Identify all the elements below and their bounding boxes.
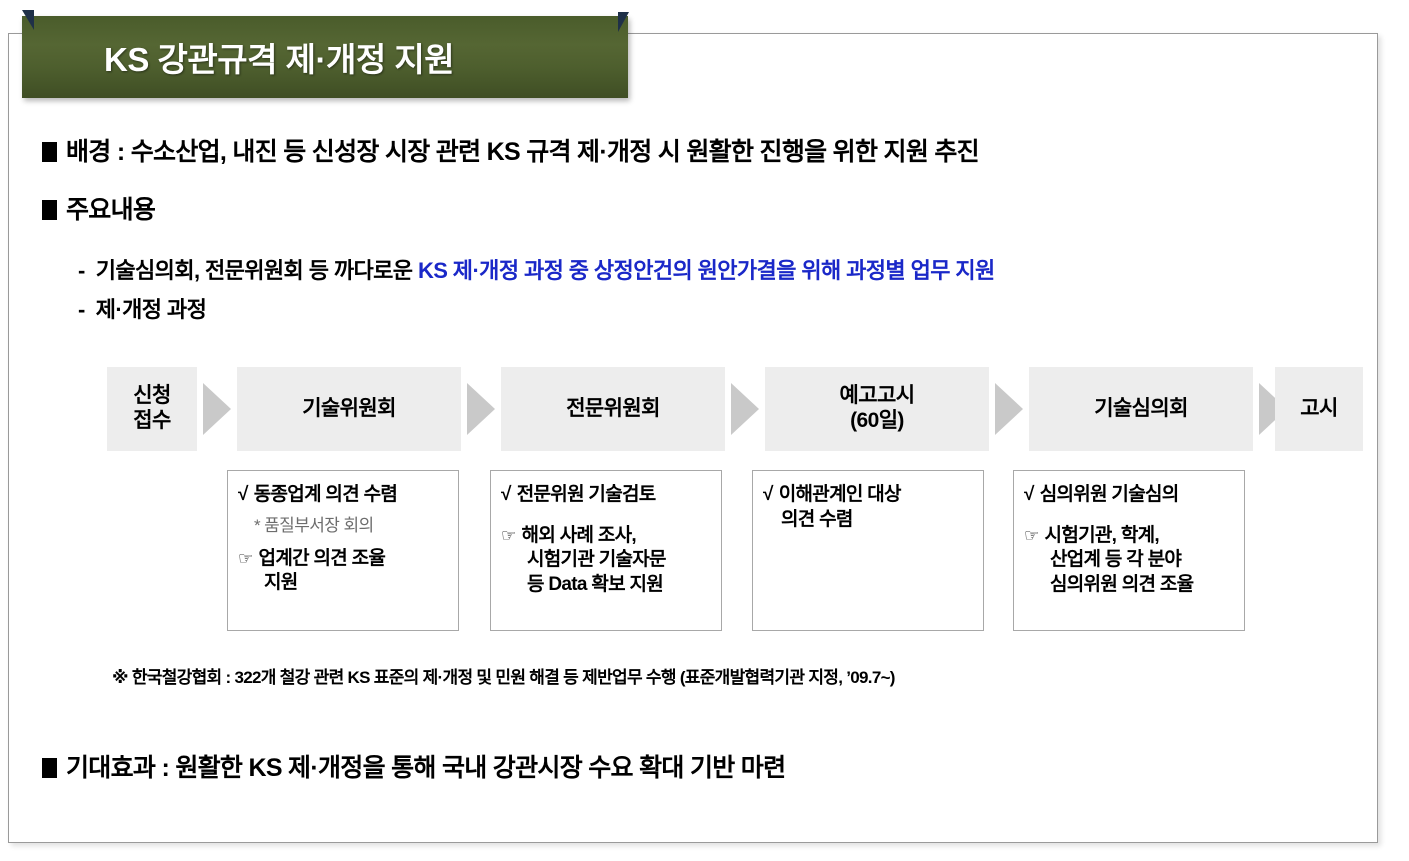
- flow-step-application-label: 신청 접수: [133, 384, 170, 434]
- detail-check-row: √ 동종업계 의견 수렴: [238, 483, 450, 508]
- flow-step-tech-committee-label: 기술위원회: [302, 397, 396, 422]
- check-icon: √: [1024, 483, 1034, 508]
- section-background-text: 배경 : 수소산업, 내진 등 신성장 시장 관련 KS 규격 제·개정 시 원…: [66, 132, 979, 168]
- detail-box-tech-deliberation: √ 심의위원 기술심의 ☞ 시험기관, 학계, 산업계 등 각 분야 심의위원 …: [1013, 470, 1245, 631]
- section-expected-effect-text: 기대효과 : 원활한 KS 제·개정을 통해 국내 강관시장 수요 확대 기반 …: [66, 748, 785, 784]
- bullet-dash-2: - 제·개정 과정: [78, 292, 206, 324]
- pointing-hand-icon: ☞: [1024, 525, 1039, 547]
- bullet-dash-1: - 기술심의회, 전문위원회 등 까다로운 KS 제·개정 과정 중 상정안건의…: [78, 253, 995, 285]
- section-expected-effect: 기대효과 : 원활한 KS 제·개정을 통해 국내 강관시장 수요 확대 기반 …: [42, 748, 785, 784]
- flow-step-expert-committee[interactable]: 전문위원회: [501, 367, 725, 451]
- title-banner: KS 강관규격 제·개정 지원: [22, 16, 628, 98]
- flow-step-notification-label: 고시: [1300, 397, 1337, 422]
- detail-note: * 품질부서장 회의: [254, 511, 450, 536]
- bullet-dash-1-black: 기술심의회, 전문위원회 등 까다로운: [96, 258, 413, 283]
- pointing-hand-icon: ☞: [501, 525, 516, 547]
- flow-step-tech-committee[interactable]: 기술위원회: [237, 367, 461, 451]
- check-icon: √: [238, 483, 248, 508]
- flow-step-tech-deliberation-label: 기술심의회: [1094, 397, 1188, 422]
- banner-notch-left-icon: [22, 10, 34, 30]
- square-bullet-icon: [42, 200, 57, 220]
- square-bullet-icon: [42, 142, 57, 162]
- section-background: 배경 : 수소산업, 내진 등 신성장 시장 관련 KS 규격 제·개정 시 원…: [42, 132, 979, 168]
- check-icon: √: [501, 483, 511, 508]
- process-flow: 신청 접수 기술위원회 전문위원회 예고고시 (60일) 기술심의회 고시: [107, 367, 1363, 451]
- flow-arrow-4-icon: [995, 383, 1023, 435]
- flow-step-tech-deliberation[interactable]: 기술심의회: [1029, 367, 1253, 451]
- detail-check-cont: 의견 수렴: [781, 508, 975, 533]
- detail-hand-text: 업계간 의견 조율: [259, 547, 386, 572]
- banner-notch-right-icon: [618, 12, 629, 32]
- dash-marker: -: [78, 297, 90, 322]
- detail-check-row: √ 이해관계인 대상: [763, 483, 975, 508]
- flow-step-public-notice[interactable]: 예고고시 (60일): [765, 367, 989, 451]
- section-main-content: 주요내용: [42, 190, 155, 226]
- dash-marker: -: [78, 258, 90, 283]
- detail-hand-cont-2: 등 Data 확보 지원: [527, 573, 713, 598]
- detail-hand-row: ☞ 업계간 의견 조율: [238, 547, 450, 572]
- detail-check-text: 이해관계인 대상: [779, 483, 901, 508]
- section-main-content-text: 주요내용: [66, 190, 155, 226]
- flow-step-application[interactable]: 신청 접수: [107, 367, 197, 451]
- detail-hand-cont-2: 심의위원 의견 조율: [1050, 573, 1236, 598]
- flow-arrow-1-icon: [203, 383, 231, 435]
- flow-step-public-notice-label: 예고고시 (60일): [840, 384, 915, 434]
- page-title: KS 강관규격 제·개정 지원: [104, 33, 454, 81]
- bullet-dash-1-blue: KS 제·개정 과정 중 상정안건의 원안가결을 위해 과정별 업무 지원: [418, 258, 995, 283]
- bullet-dash-2-text: 제·개정 과정: [96, 297, 206, 322]
- detail-check-text: 전문위원 기술검토: [517, 483, 656, 508]
- detail-box-expert-committee: √ 전문위원 기술검토 ☞ 해외 사례 조사, 시험기관 기술자문 등 Data…: [490, 470, 722, 631]
- detail-box-public-notice: √ 이해관계인 대상 의견 수렴: [752, 470, 984, 631]
- detail-hand-text: 시험기관, 학계,: [1045, 524, 1159, 549]
- check-icon: √: [763, 483, 773, 508]
- detail-box-tech-committee: √ 동종업계 의견 수렴 * 품질부서장 회의 ☞ 업계간 의견 조율 지원: [227, 470, 459, 631]
- detail-hand-row: ☞ 시험기관, 학계,: [1024, 524, 1236, 549]
- detail-hand-text: 해외 사례 조사,: [522, 524, 636, 549]
- detail-check-text: 동종업계 의견 수렴: [254, 483, 397, 508]
- flow-step-expert-committee-label: 전문위원회: [566, 397, 660, 422]
- detail-hand-row: ☞ 해외 사례 조사,: [501, 524, 713, 549]
- footnote: ※ 한국철강협회 : 322개 철강 관련 KS 표준의 제·개정 및 민원 해…: [112, 663, 895, 688]
- pointing-hand-icon: ☞: [238, 548, 253, 570]
- detail-hand-cont-1: 시험기관 기술자문: [527, 548, 713, 573]
- detail-check-row: √ 전문위원 기술검토: [501, 483, 713, 508]
- detail-check-text: 심의위원 기술심의: [1040, 483, 1179, 508]
- detail-check-row: √ 심의위원 기술심의: [1024, 483, 1236, 508]
- detail-hand-cont-1: 산업계 등 각 분야: [1050, 548, 1236, 573]
- detail-hand-cont: 지원: [264, 571, 450, 596]
- flow-arrow-3-icon: [731, 383, 759, 435]
- square-bullet-icon: [42, 758, 57, 778]
- flow-arrow-2-icon: [467, 383, 495, 435]
- flow-step-notification[interactable]: 고시: [1275, 367, 1363, 451]
